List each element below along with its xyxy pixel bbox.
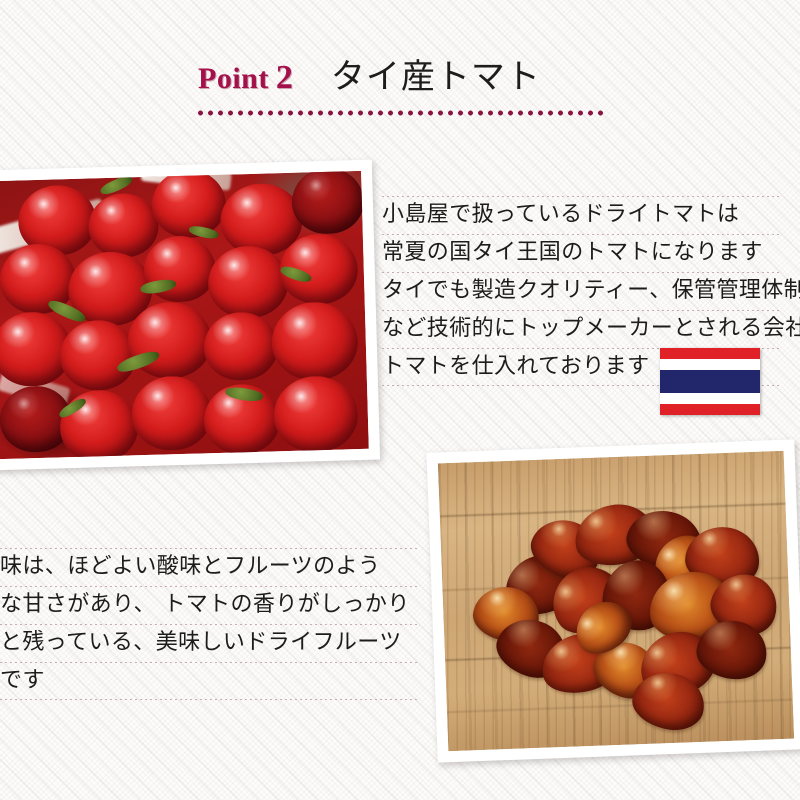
body-right-line: 小島屋で扱っているドライトマトは bbox=[382, 196, 782, 234]
page-title: タイ産トマト bbox=[331, 60, 541, 94]
body-bottom-line: です bbox=[0, 662, 420, 700]
thailand-flag-icon bbox=[660, 348, 760, 415]
section-header: Point 2 タイ産トマト bbox=[0, 60, 800, 128]
body-text-bottom: 味は、ほどよい酸味とフルーツのよう な甘さがあり、 トマトの香りがしっかり と残… bbox=[0, 548, 420, 700]
flag-band-white-top bbox=[660, 359, 760, 370]
flag-band-white-bottom bbox=[660, 393, 760, 404]
flag-band-red-top bbox=[660, 348, 760, 359]
point-number: 2 bbox=[276, 61, 293, 95]
body-bottom-line: と残っている、美味しいドライフルーツ bbox=[0, 624, 420, 662]
body-right-line: など技術的にトップメーカーとされる会社の bbox=[382, 310, 782, 348]
photo-dried-tomatoes bbox=[426, 439, 800, 762]
photo-fresh-tomatoes-image bbox=[0, 171, 369, 459]
body-right-line: 常夏の国タイ王国のトマトになります bbox=[382, 234, 782, 272]
dried-tomato-scene bbox=[438, 451, 794, 751]
header-dotted-divider bbox=[198, 110, 608, 116]
flag-band-blue bbox=[660, 370, 760, 392]
body-right-line: タイでも製造クオリティー、保管管理体制 bbox=[382, 272, 782, 310]
photo-fresh-tomatoes bbox=[0, 160, 380, 471]
page-root: Point 2 タイ産トマト bbox=[0, 0, 800, 800]
photo-dried-tomatoes-image bbox=[438, 451, 794, 751]
fresh-tomato-scene bbox=[0, 171, 369, 459]
point-label: Point bbox=[198, 64, 269, 94]
body-bottom-line: 味は、ほどよい酸味とフルーツのよう bbox=[0, 548, 420, 586]
header-heading-row: Point 2 タイ産トマト bbox=[198, 60, 608, 108]
flag-band-red-bottom bbox=[660, 404, 760, 415]
body-bottom-line: な甘さがあり、 トマトの香りがしっかり bbox=[0, 586, 420, 624]
